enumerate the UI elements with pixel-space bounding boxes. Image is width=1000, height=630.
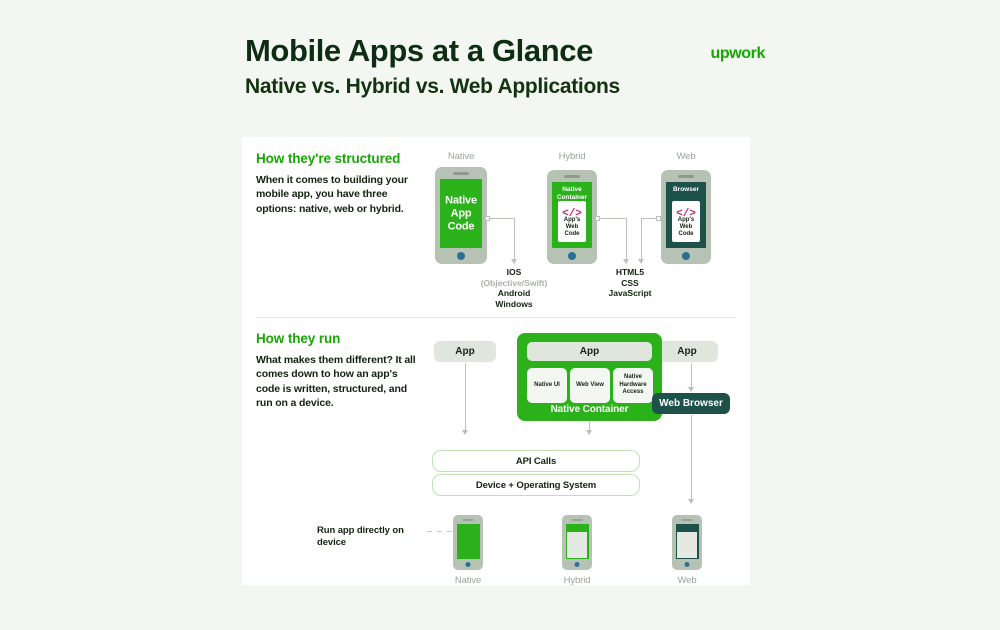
phone-speaker-icon (453, 172, 469, 175)
phone-screen-hybrid-run (566, 524, 589, 559)
phone-speaker-icon (572, 519, 583, 521)
web-tech-stack: HTML5 CSS JavaScript (570, 267, 690, 299)
connector-arrow-icon (511, 259, 517, 264)
tech-line-ios: IOS (454, 267, 574, 278)
connector-line (600, 218, 627, 219)
connector-line (691, 415, 692, 501)
web-view-box: Web View (570, 368, 610, 403)
connector-arrow-icon (638, 259, 644, 264)
connector-arrow-icon (688, 387, 694, 392)
app-box-native: App (434, 341, 496, 362)
phone-home-button-icon (685, 562, 690, 567)
web-browser-area (677, 532, 697, 558)
bottom-caption-web: Web (647, 575, 727, 586)
connector-arrow-icon (623, 259, 629, 264)
phone-home-button-icon (568, 252, 576, 260)
phone-home-button-icon (457, 252, 465, 260)
phone-speaker-icon (678, 175, 694, 178)
hybrid-webview-area (567, 532, 587, 558)
connector-arrow-icon (462, 430, 468, 435)
connector-line (514, 218, 515, 260)
tech-line-objective-swift: (Objective/Swift) (454, 278, 574, 289)
connector-arrow-icon (586, 430, 592, 435)
browser-screen-label: Browser (666, 186, 706, 194)
run-app-note: Run app directly on device (317, 525, 427, 549)
native-container-screen-label: Native Container (552, 186, 592, 201)
column-caption-native: Native (421, 151, 501, 162)
tech-line-android: Android (454, 288, 574, 299)
upwork-logo: upwork (711, 45, 766, 63)
connector-line (641, 218, 657, 219)
section2-body: What makes them different? It all comes … (256, 353, 416, 411)
phone-screen-web-run (676, 524, 699, 559)
phone-web-structured: Browser </> App's Web Code (661, 170, 711, 264)
native-container-app-box: App (527, 342, 652, 361)
tech-line-html5: HTML5 (570, 267, 690, 278)
tech-line-windows: Windows (454, 299, 574, 310)
column-caption-web: Web (646, 151, 726, 162)
phone-speaker-icon (564, 175, 580, 178)
native-container-block: App Native UI Web View Native Hardware A… (517, 333, 662, 421)
column-caption-hybrid: Hybrid (532, 151, 612, 162)
phone-speaker-icon (682, 519, 693, 521)
phone-speaker-icon (463, 519, 474, 521)
phone-home-button-icon (575, 562, 580, 567)
web-code-card-web: </> App's Web Code (672, 201, 700, 242)
header: Mobile Apps at a Glance Native vs. Hybri… (245, 34, 765, 119)
native-container-label: Native Container (517, 404, 662, 415)
infographic-canvas: Mobile Apps at a Glance Native vs. Hybri… (0, 0, 1000, 630)
web-code-card-hybrid: </> App's Web Code (558, 201, 586, 242)
web-code-caption: App's Web Code (558, 217, 586, 238)
bottom-caption-hybrid: Hybrid (537, 575, 617, 586)
phone-screen-web: Browser </> App's Web Code (666, 182, 706, 248)
phone-home-button-icon (682, 252, 690, 260)
device-os-pill: Device + Operating System (432, 474, 640, 496)
native-ui-box: Native UI (527, 368, 567, 403)
phone-screen-native-run (457, 524, 480, 559)
phone-home-button-icon (466, 562, 471, 567)
phone-native-run (453, 515, 483, 570)
phone-hybrid-structured: Native Container </> App's Web Code (547, 170, 597, 264)
connector-line (641, 218, 642, 260)
phone-native-structured: Native App Code (435, 167, 487, 264)
web-browser-box: Web Browser (652, 393, 730, 414)
connector-line (465, 363, 466, 431)
connector-line (490, 218, 515, 219)
page-subtitle: Native vs. Hybrid vs. Web Applications (245, 74, 765, 100)
app-box-web: App (656, 341, 718, 362)
content-card: How they're structured When it comes to … (242, 137, 750, 585)
connector-line (691, 363, 692, 390)
native-tech-stack: IOS (Objective/Swift) Android Windows (454, 267, 574, 309)
phone-screen-hybrid: Native Container </> App's Web Code (552, 182, 592, 248)
web-code-caption: App's Web Code (672, 217, 700, 238)
native-app-code-label: Native App Code (440, 194, 482, 233)
tech-line-javascript: JavaScript (570, 288, 690, 299)
phone-hybrid-run (562, 515, 592, 570)
tech-line-css: CSS (570, 278, 690, 289)
phone-screen-native: Native App Code (440, 179, 482, 248)
bottom-caption-native: Native (428, 575, 508, 586)
phone-web-run (672, 515, 702, 570)
section1-body: When it comes to building your mobile ap… (256, 173, 424, 216)
native-hardware-access-box: Native Hardware Access (613, 368, 653, 403)
api-calls-pill: API Calls (432, 450, 640, 472)
connector-line (626, 218, 627, 260)
page-title: Mobile Apps at a Glance (245, 34, 765, 68)
section-divider (256, 317, 736, 318)
connector-arrow-icon (688, 499, 694, 504)
